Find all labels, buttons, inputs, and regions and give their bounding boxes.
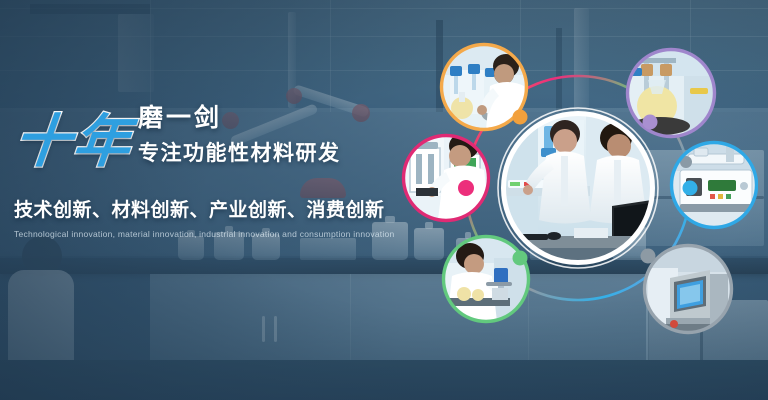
tagline-chinese: 技术创新、材料创新、产业创新、消费创新 [14, 195, 370, 222]
headline-line-b: 专注功能性材料研发 [138, 137, 341, 167]
node-grey [641, 249, 656, 264]
node-pink [458, 180, 474, 196]
tagline-english: Technological innovation, material innov… [14, 229, 370, 239]
cluster-graphics [398, 30, 758, 370]
headline-calligraphy: 十年 [11, 115, 135, 169]
headline-block: 十年 磨一剑 专注功能性材料研发 技术创新、材料创新、产业创新、消费创新 Tec… [14, 98, 370, 239]
node-purple [643, 115, 658, 130]
node-cyan [683, 181, 698, 196]
node-green [513, 251, 528, 266]
circular-photo-cluster [398, 30, 758, 370]
promo-banner: 十年 磨一剑 专注功能性材料研发 技术创新、材料创新、产业创新、消费创新 Tec… [0, 0, 768, 400]
headline-line-a: 磨一剑 [138, 98, 341, 134]
node-orange [513, 110, 528, 125]
